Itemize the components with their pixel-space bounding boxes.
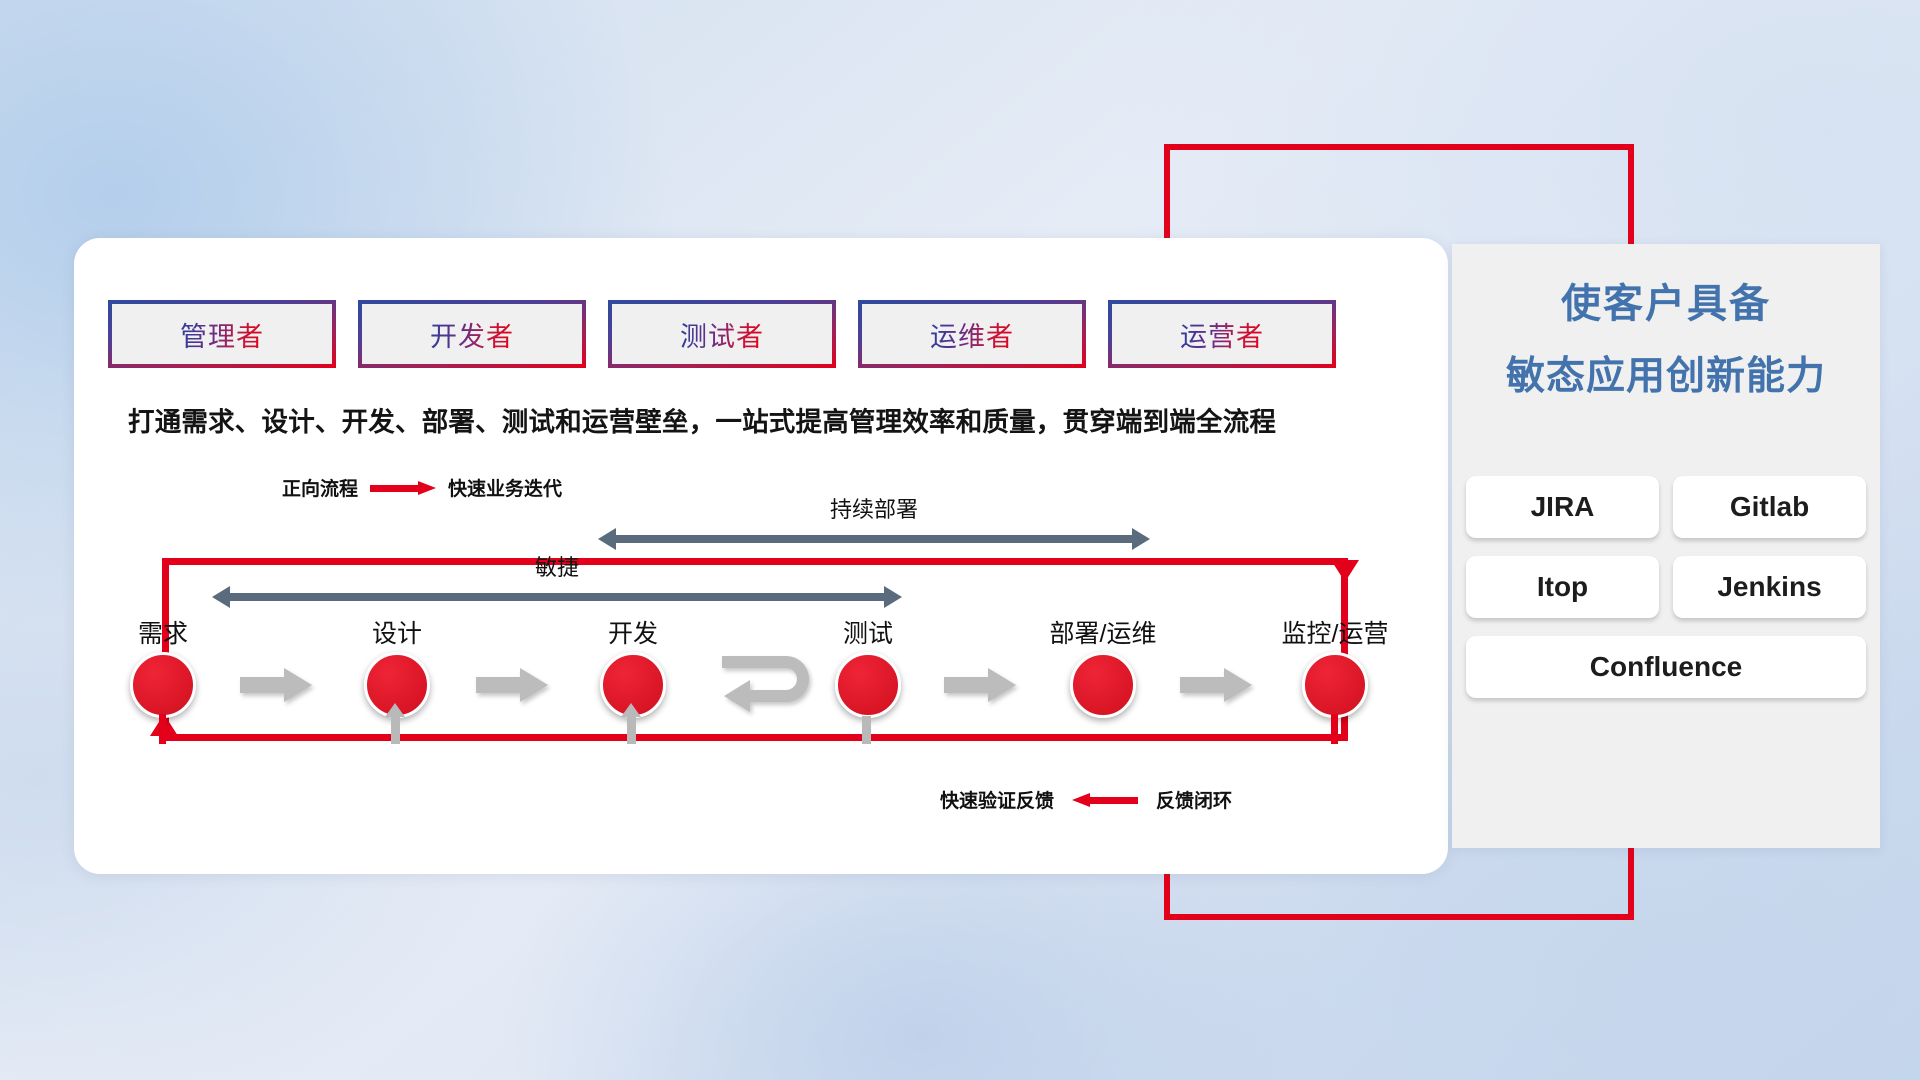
tool-button-jenkins[interactable]: Jenkins (1673, 556, 1866, 618)
stem-monitor-red (1331, 714, 1338, 744)
stage-label: 监控/运营 (1282, 614, 1389, 650)
stage-label: 测试 (843, 614, 893, 650)
measure-label: 持续部署 (598, 492, 1150, 524)
feedback-loop-legend: 快速验证反馈 反馈闭环 (940, 786, 1232, 813)
stage-node-requirements[interactable]: 需求 (130, 652, 196, 718)
block-arrow-right-icon (944, 668, 1016, 702)
stem-development-connector (627, 716, 636, 744)
stage-node-deploy-ops[interactable]: 部署/运维 (1070, 652, 1136, 718)
measure-label: 敏捷 (212, 550, 902, 582)
block-arrow-right-icon (476, 668, 548, 702)
stage-label: 设计 (372, 614, 422, 650)
stage-label: 部署/运维 (1050, 614, 1157, 650)
role-chip-label: 运营者 (1180, 315, 1264, 354)
tool-button-gitlab[interactable]: Gitlab (1673, 476, 1866, 538)
slide-canvas: 管理者 开发者 测试者 运维者 运营者 打通需求、设计、开发、部署、测试和运营壁… (0, 0, 1920, 1080)
stage-label: 开发 (608, 614, 658, 650)
role-chip-tester[interactable]: 测试者 (608, 300, 836, 368)
role-chip-label: 开发者 (430, 315, 514, 354)
forward-flow-legend: 正向流程 快速业务迭代 (282, 474, 562, 501)
stage-label: 需求 (138, 614, 188, 650)
role-chip-operations[interactable]: 运营者 (1108, 300, 1336, 368)
loop-arrow-down-icon (1331, 560, 1359, 582)
stage-node-testing[interactable]: 测试 (835, 652, 901, 718)
description-text: 打通需求、设计、开发、部署、测试和运营壁垒，一站式提高管理效率和质量，贯穿端到端… (128, 400, 1428, 439)
panel-title-line2: 敏态应用创新能力 (1452, 348, 1880, 407)
role-chip-ops[interactable]: 运维者 (858, 300, 1086, 368)
role-chip-label: 运维者 (930, 315, 1014, 354)
stem-testing-connector (862, 716, 871, 744)
feedback-right-label: 反馈闭环 (1156, 786, 1232, 813)
role-chip-label: 测试者 (680, 315, 764, 354)
measure-agile: 敏捷 (212, 586, 902, 608)
tool-button-jira[interactable]: JIRA (1466, 476, 1659, 538)
stage-dot-icon (130, 652, 196, 718)
forward-flow-right-label: 快速业务迭代 (448, 474, 562, 501)
stage-dot-icon (835, 652, 901, 718)
stem-design-connector (391, 716, 400, 744)
forward-flow-left-label: 正向流程 (282, 474, 358, 501)
arrow-right-head-icon (1132, 528, 1150, 550)
measure-continuous-deployment: 持续部署 (598, 528, 1150, 550)
tool-button-itop[interactable]: Itop (1466, 556, 1659, 618)
red-left-arrow-icon (1072, 793, 1138, 807)
block-arrow-right-icon (1180, 668, 1252, 702)
cycle-uturn-arrow-icon (714, 652, 824, 714)
stem-requirements-red (159, 714, 166, 744)
role-chip-manager[interactable]: 管理者 (108, 300, 336, 368)
tool-button-confluence[interactable]: Confluence (1466, 636, 1866, 698)
role-chip-row: 管理者 开发者 测试者 运维者 运营者 (108, 300, 1336, 368)
feedback-left-label: 快速验证反馈 (940, 786, 1054, 813)
role-chip-label: 管理者 (180, 315, 264, 354)
panel-title-line1: 使客户具备 (1452, 274, 1880, 334)
stage-dot-icon (1070, 652, 1136, 718)
role-chip-developer[interactable]: 开发者 (358, 300, 586, 368)
panel-title: 使客户具备 敏态应用创新能力 (1452, 274, 1880, 407)
tools-panel: 使客户具备 敏态应用创新能力 JIRA Gitlab Itop Jenkins … (1452, 244, 1880, 848)
block-arrow-right-icon (240, 668, 312, 702)
arrow-right-head-icon (884, 586, 902, 608)
red-right-arrow-icon (370, 481, 436, 495)
stage-dot-icon (1302, 652, 1368, 718)
stage-node-monitor-operate[interactable]: 监控/运营 (1302, 652, 1368, 718)
tool-button-grid: JIRA Gitlab Itop Jenkins Confluence (1466, 476, 1866, 698)
